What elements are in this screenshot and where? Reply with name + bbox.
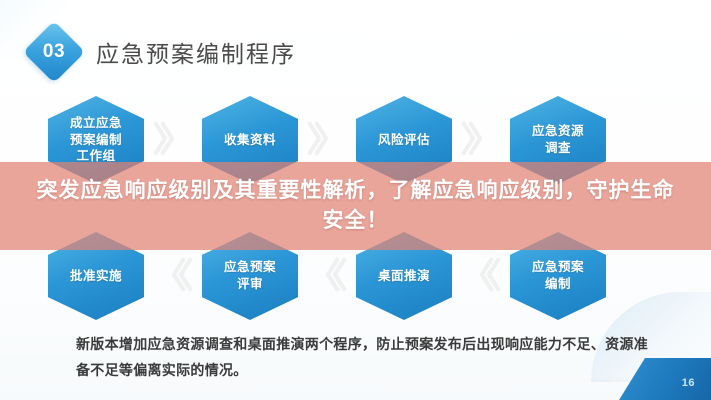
footer-note: 新版本增加应急资源调查和桌面推演两个程序，防止预案发布后出现响应能力不足、资源准… bbox=[76, 332, 656, 384]
arrow-right-icon: 〉〉 bbox=[452, 116, 510, 164]
process-step-label: 应急预案 编制 bbox=[526, 259, 590, 293]
process-step-label: 应急预案 评审 bbox=[218, 259, 282, 293]
process-step-label: 桌面推演 bbox=[372, 268, 436, 285]
section-number-badge: 03 bbox=[26, 24, 82, 80]
process-step-label: 风险评估 bbox=[372, 132, 436, 149]
section-number-label: 03 bbox=[26, 24, 82, 80]
process-step-label: 收集资料 bbox=[218, 132, 282, 149]
page-number: 16 bbox=[682, 377, 695, 389]
process-step-label: 应急资源 调查 bbox=[526, 123, 590, 157]
arrow-left-icon: 〈〈 bbox=[452, 252, 510, 300]
arrow-right-icon: 〉〉 bbox=[144, 116, 202, 164]
arrow-right-icon: 〉〉 bbox=[298, 116, 356, 164]
process-step-label: 成立应急 预案编制 工作组 bbox=[64, 115, 128, 166]
process-step-label: 批准实施 bbox=[64, 268, 128, 285]
slide-header: 03 应急预案编制程序 bbox=[26, 24, 296, 80]
arrow-left-icon: 〈〈 bbox=[144, 252, 202, 300]
arrow-left-icon: 〈〈 bbox=[298, 252, 356, 300]
overlay-banner: 突发应急响应级别及其重要性解析，了解应急响应级别，守护生命安全！ bbox=[0, 162, 711, 250]
slide-canvas: 16 03 应急预案编制程序 成立应急 预案编制 工作组 〉〉 收集资料 〉〉 … bbox=[0, 0, 711, 400]
page-title: 应急预案编制程序 bbox=[96, 35, 296, 69]
overlay-banner-text: 突发应急响应级别及其重要性解析，了解应急响应级别，守护生命安全！ bbox=[36, 176, 676, 237]
